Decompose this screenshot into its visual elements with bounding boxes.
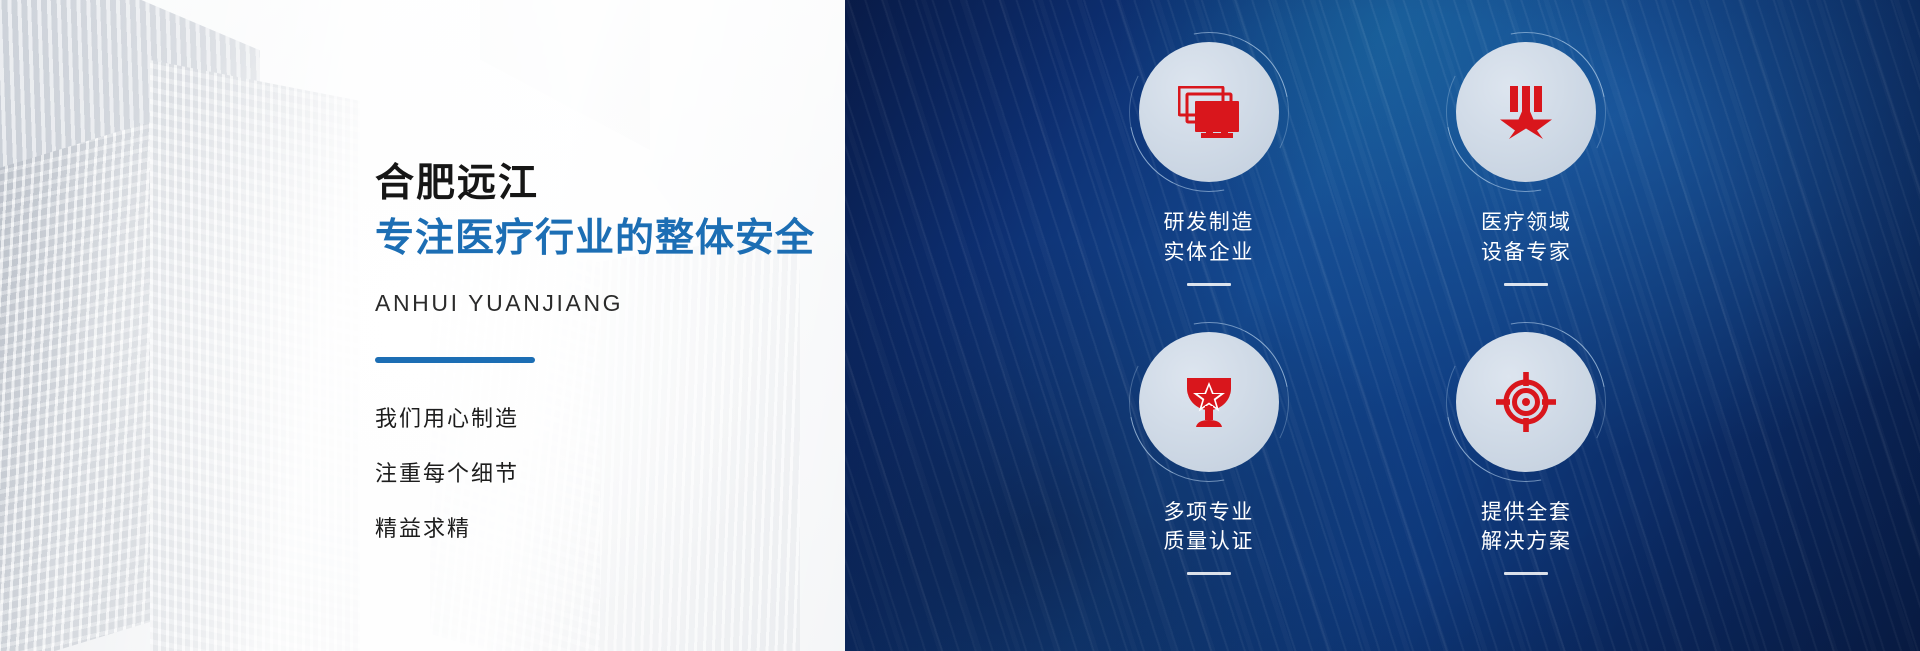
feature-label-line1: 多项专业 (1164, 498, 1254, 528)
feature-label-line2: 解决方案 (1481, 527, 1571, 557)
icon-ring-wrapper (1139, 42, 1279, 182)
page-subtitle: 专注医疗行业的整体安全 (375, 215, 845, 264)
feature-grid: 研发制造 实体企业 (845, 0, 1920, 651)
feature-underline (1504, 572, 1548, 575)
feature-item-factory[interactable]: 研发制造 实体企业 (1050, 42, 1368, 332)
hero-banner: 合肥远江 专注医疗行业的整体安全 ANHUI YUANJIANG 我们用心制造 … (0, 0, 1920, 651)
icon-circle (1456, 332, 1596, 472)
left-panel: 合肥远江 专注医疗行业的整体安全 ANHUI YUANJIANG 我们用心制造 … (0, 0, 845, 651)
feature-label-line1: 研发制造 (1164, 208, 1254, 238)
feature-label: 研发制造 实体企业 (1164, 208, 1254, 268)
feature-item-target[interactable]: 提供全套 解决方案 (1368, 332, 1686, 622)
feature-item-medal[interactable]: 医疗领域 设备专家 (1368, 42, 1686, 332)
feature-underline (1504, 283, 1548, 286)
medal-star-icon (1498, 84, 1554, 140)
slogan-list: 我们用心制造 注重每个细节 精益求精 (375, 408, 845, 540)
trophy-icon (1179, 374, 1239, 430)
feature-label: 多项专业 质量认证 (1164, 498, 1254, 558)
slogan-line: 注重每个细节 (375, 463, 845, 485)
page-title: 合肥远江 (375, 160, 845, 209)
feature-item-trophy[interactable]: 多项专业 质量认证 (1050, 332, 1368, 622)
feature-label-line2: 质量认证 (1164, 527, 1254, 557)
feature-underline (1187, 283, 1231, 286)
icon-ring-wrapper (1456, 332, 1596, 472)
feature-label-line1: 医疗领域 (1481, 208, 1571, 238)
feature-label-line1: 提供全套 (1481, 498, 1571, 528)
icon-circle (1139, 42, 1279, 182)
feature-underline (1187, 572, 1231, 575)
left-text-block: 合肥远江 专注医疗行业的整体安全 ANHUI YUANJIANG 我们用心制造 … (375, 160, 845, 540)
icon-circle (1456, 42, 1596, 182)
title-divider (375, 357, 535, 363)
icon-ring-wrapper (1456, 42, 1596, 182)
target-icon (1496, 372, 1556, 432)
slogan-line: 精益求精 (375, 518, 845, 540)
icon-ring-wrapper (1139, 332, 1279, 472)
feature-label-line2: 实体企业 (1164, 238, 1254, 268)
right-panel: 研发制造 实体企业 (845, 0, 1920, 651)
slogan-line: 我们用心制造 (375, 408, 845, 430)
page-title-english: ANHUI YUANJIANG (375, 290, 845, 317)
feature-label: 提供全套 解决方案 (1481, 498, 1571, 558)
icon-circle (1139, 332, 1279, 472)
feature-label-line2: 设备专家 (1481, 238, 1571, 268)
feature-label: 医疗领域 设备专家 (1481, 208, 1571, 268)
factory-icon (1178, 86, 1240, 138)
